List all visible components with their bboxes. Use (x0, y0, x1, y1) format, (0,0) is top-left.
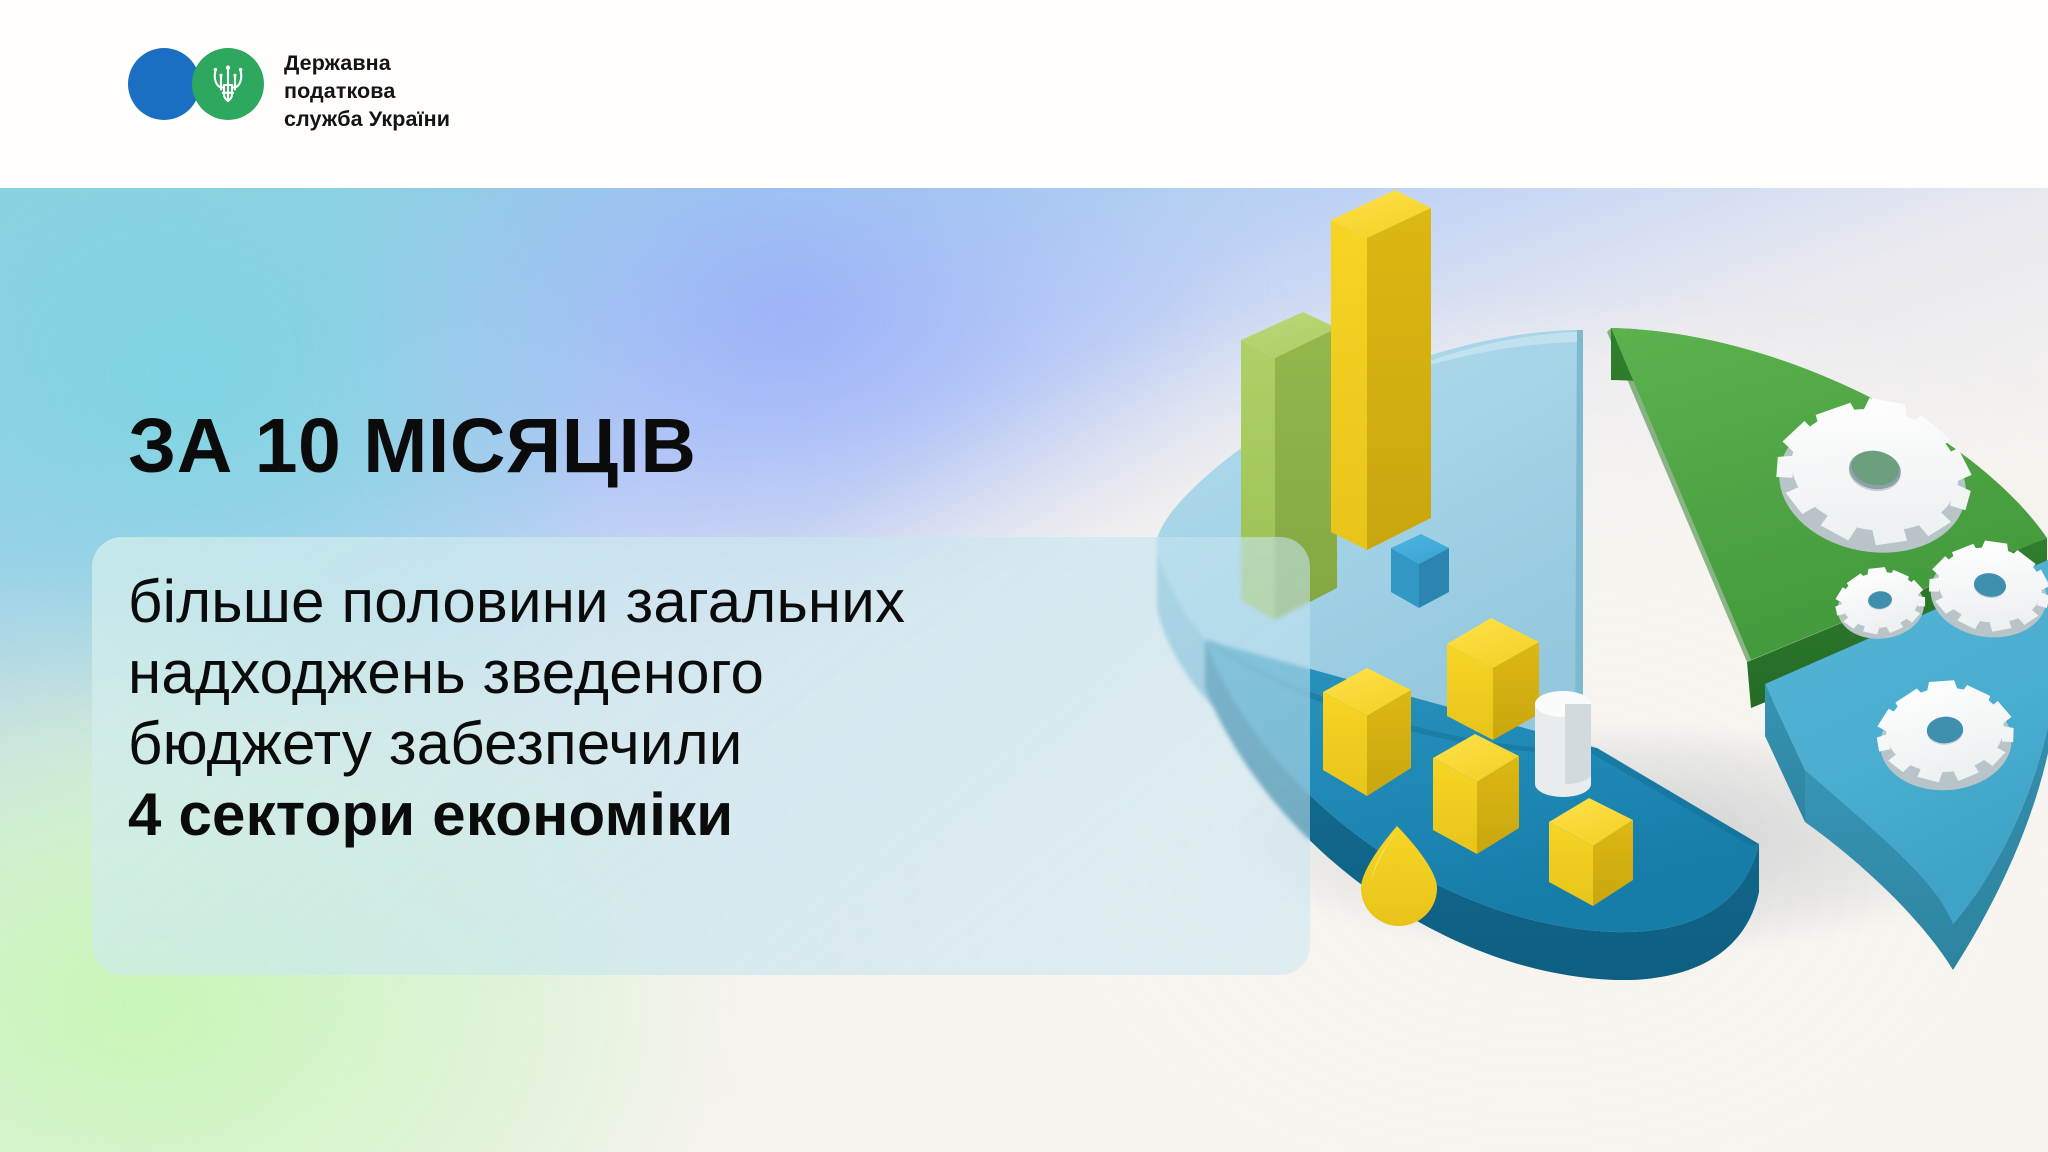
logo-blue-circle-icon (128, 48, 200, 120)
body-copy: більше половини загальних надходжень зве… (128, 566, 1288, 850)
yellow-cube-b (1447, 618, 1539, 740)
ukrainian-trident-emblem-icon (211, 63, 245, 105)
yellow-bar-3d (1331, 190, 1431, 550)
body-line-3: бюджету забезпечили (128, 708, 1288, 779)
page-title: ЗА 10 МІСЯЦІВ (128, 408, 697, 485)
logo-green-circle-icon (192, 48, 264, 120)
body-line-4: 4 сектори економіки (128, 779, 1288, 850)
brand-lockup[interactable]: Державна податкова служба України (128, 48, 450, 134)
body-line-2: надходжень зведеного (128, 637, 1288, 708)
header-bar: Державна податкова служба України (0, 0, 2048, 188)
body-line-1: більше половини загальних (128, 566, 1288, 637)
organization-name: Державна податкова служба України (284, 48, 450, 134)
poster-canvas: ЗА 10 МІСЯЦІВ більше половини загальних … (0, 0, 2048, 1152)
white-cylinder (1535, 691, 1591, 797)
